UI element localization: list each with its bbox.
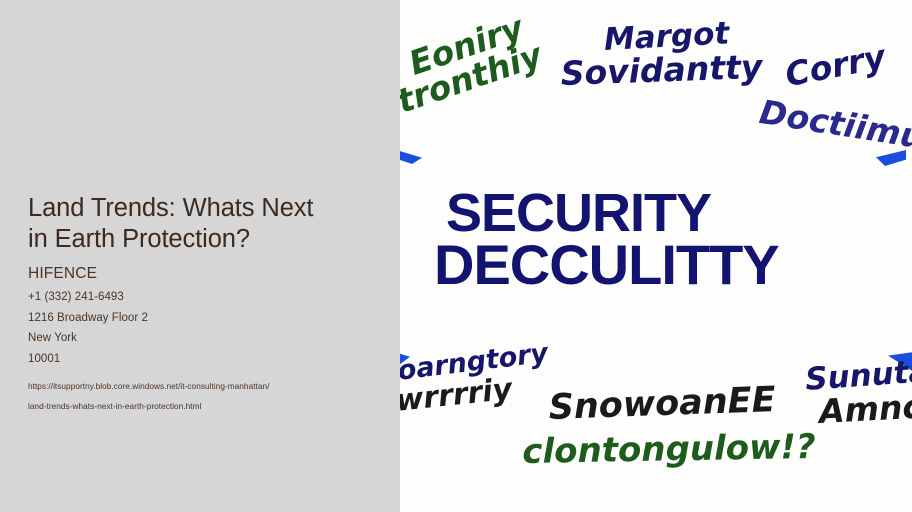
scribble-sunutas: Sunutas — [804, 352, 912, 398]
blue-accent-top-left — [400, 352, 410, 364]
contact-list: +1 (332) 241-6493 1216 Broadway Floor 2 … — [28, 287, 400, 369]
headline-decculitty: DECCULITTY — [434, 232, 779, 297]
scribble-sovidantty: Sovidantty — [560, 47, 763, 93]
contact-phone: +1 (332) 241-6493 — [28, 287, 400, 308]
info-block: Land Trends: Whats Next in Earth Protect… — [28, 193, 400, 416]
scribble-wrrrriy: wrrrriy — [400, 372, 514, 419]
contact-zip: 10001 — [28, 349, 400, 370]
page-title-line-2: in Earth Protection? — [28, 224, 400, 255]
scribble-amnc: Amnc — [818, 387, 912, 431]
word-cloud-image: Eoniry tronthiy Margot Sovidantty Corry … — [400, 0, 912, 512]
scribble-oarngtory: oarngtory — [400, 338, 550, 387]
scribble-clontongulow: clontongulow!? — [522, 427, 816, 472]
scribble-corry: Corry — [782, 37, 889, 95]
source-url-line-1: https://itsupportny.blob.core.windows.ne… — [28, 376, 400, 396]
page-title-line-1: Land Trends: Whats Next — [28, 193, 400, 224]
scribble-tronthiy: tronthiy — [400, 35, 547, 121]
blue-accent-right — [876, 150, 906, 166]
promo-card: Land Trends: Whats Next in Earth Protect… — [0, 0, 912, 512]
brand-name: HIFENCE — [28, 264, 400, 283]
blue-accent-bottom-right — [888, 352, 912, 372]
source-url[interactable]: https://itsupportny.blob.core.windows.ne… — [28, 376, 400, 416]
page-title: Land Trends: Whats Next in Earth Protect… — [28, 193, 400, 255]
scribble-margot: Margot — [603, 15, 730, 58]
blue-accent-left — [400, 150, 422, 164]
contact-street: 1216 Broadway Floor 2 — [28, 308, 400, 329]
source-url-line-2: land-trends-whats-next-in-earth-protecti… — [28, 396, 400, 416]
scribble-snowoanee: SnowoanEE — [548, 380, 776, 428]
scribble-doctiimu: Doctiimu — [757, 92, 912, 156]
scribble-eoniry: Eoniry — [404, 8, 528, 83]
info-panel: Land Trends: Whats Next in Earth Protect… — [0, 0, 400, 512]
contact-city: New York — [28, 328, 400, 349]
